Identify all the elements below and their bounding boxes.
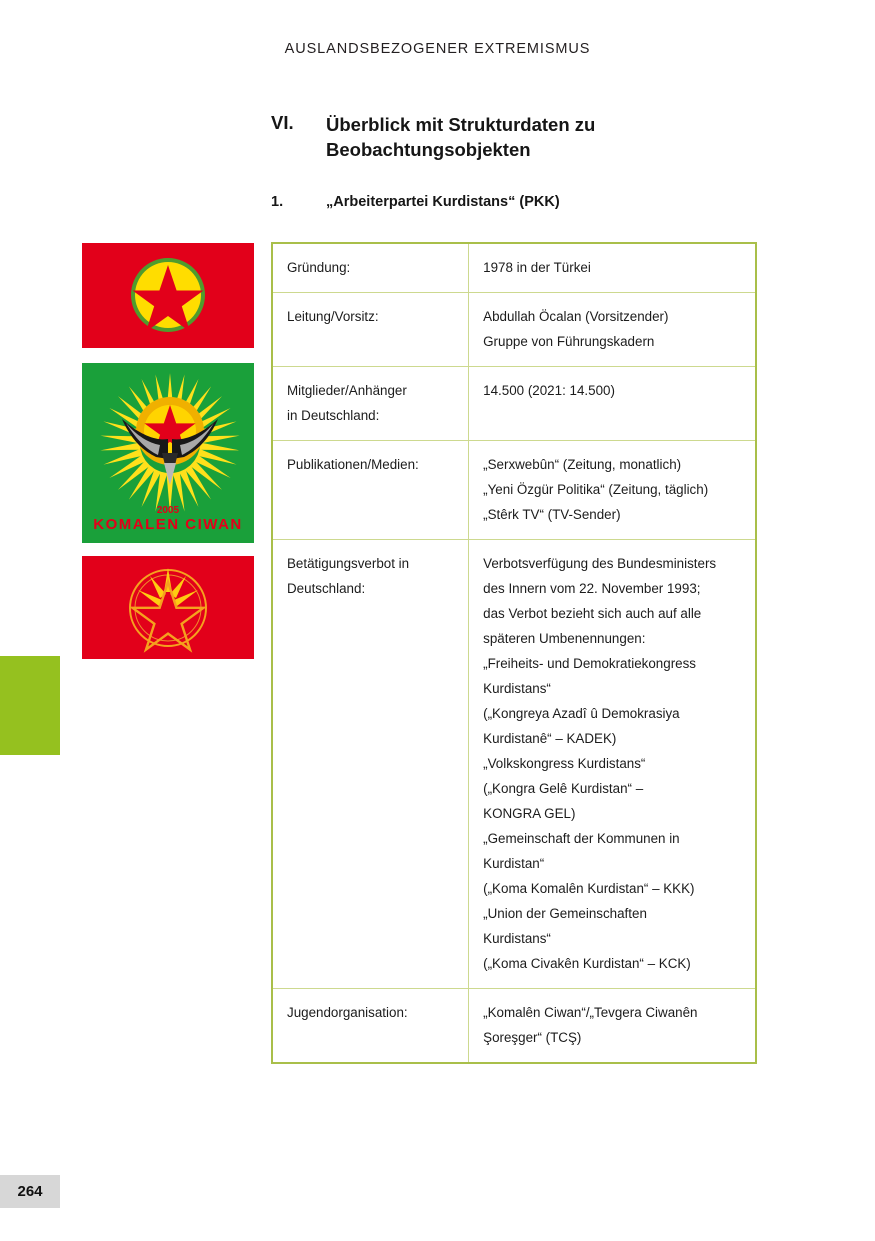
value-line: Abdullah Öcalan (Vorsitzender) [483,304,741,329]
section-number: 1. [271,194,283,210]
section-title: „Arbeiterpartei Kurdistans“ (PKK) [326,194,741,210]
table-row: Publikationen/Medien: „Serxwebûn“ (Zeitu… [272,441,756,540]
row-value-betaetigungsverbot: Verbotsverfügung des Bundesministers des… [469,540,756,989]
value-line: Kurdistanê“ – KADEK) [483,726,741,751]
value-line: Şoreşger“ (TCŞ) [483,1025,741,1050]
row-value-mitglieder: 14.500 (2021: 14.500) [469,367,756,441]
running-header: AUSLANDSBEZOGENER EXTREMISMUS [0,41,875,57]
chapter-heading: VI. Überblick mit Strukturdaten zu Beoba… [271,112,741,162]
komalen-ciwan-flag-graphic: 2005 KOMALEN CIWAN [82,363,254,543]
value-line: KONGRA GEL) [483,801,741,826]
value-line: späteren Umbenennungen: [483,626,741,651]
value-line: „Serxwebûn“ (Zeitung, monatlich) [483,452,741,477]
komalen-emblem-year: 2005 [157,505,180,516]
row-value-gruendung: 1978 in der Türkei [469,243,756,293]
tcs-flag-graphic [82,556,254,659]
value-line: „Volkskongress Kurdistans“ [483,751,741,776]
row-label-leitung: Leitung/Vorsitz: [272,293,469,367]
tcs-flag-image [82,556,254,659]
margin-color-tab [0,656,60,755]
table-row: Gründung: 1978 in der Türkei [272,243,756,293]
document-page: AUSLANDSBEZOGENER EXTREMISMUS VI. Überbl… [0,0,875,1241]
table-body: Gründung: 1978 in der Türkei Leitung/Vor… [272,243,756,1063]
value-line: „Yeni Özgür Politika“ (Zeitung, täglich) [483,477,741,502]
row-label-publikationen: Publikationen/Medien: [272,441,469,540]
section-heading: 1. „Arbeiterpartei Kurdistans“ (PKK) [271,194,741,210]
value-line: des Innern vom 22. November 1993; [483,576,741,601]
label-line: Leitung/Vorsitz: [287,304,454,329]
label-line: Mitglieder/Anhänger [287,378,454,403]
value-line: 14.500 (2021: 14.500) [483,378,741,403]
value-line: („Kongra Gelê Kurdistan“ – [483,776,741,801]
row-label-jugendorganisation: Jugendorganisation: [272,989,469,1064]
label-line: Publikationen/Medien: [287,452,454,477]
value-line: Gruppe von Führungskadern [483,329,741,354]
value-line: Kurdistans“ [483,926,741,951]
row-value-publikationen: „Serxwebûn“ (Zeitung, monatlich) „Yeni Ö… [469,441,756,540]
chapter-title: Überblick mit Strukturdaten zu Beobachtu… [326,112,741,162]
value-line: „Komalên Ciwan“/„Tevgera Ciwanên [483,1000,741,1025]
row-label-betaetigungsverbot: Betätigungsverbot in Deutschland: [272,540,469,989]
label-line: Betätigungsverbot in [287,551,454,576]
table-row: Mitglieder/Anhänger in Deutschland: 14.5… [272,367,756,441]
value-line: Kurdistan“ [483,851,741,876]
structure-data-table: Gründung: 1978 in der Türkei Leitung/Vor… [271,242,757,1064]
table-row: Leitung/Vorsitz: Abdullah Öcalan (Vorsit… [272,293,756,367]
table-row: Betätigungsverbot in Deutschland: Verbot… [272,540,756,989]
value-line: 1978 in der Türkei [483,255,741,280]
value-line: „Freiheits- und Demokratiekongress [483,651,741,676]
value-line: („Koma Komalên Kurdistan“ – KKK) [483,876,741,901]
pkk-flag-graphic [82,243,254,348]
pkk-flag-image [82,243,254,348]
label-line: Gründung: [287,255,454,280]
page-number: 264 [0,1175,60,1208]
value-line: („Kongreya Azadî û Demokrasiya [483,701,741,726]
value-line: („Koma Civakên Kurdistan“ – KCK) [483,951,741,976]
komalen-emblem-text: KOMALEN CIWAN [93,516,243,533]
row-value-jugendorganisation: „Komalên Ciwan“/„Tevgera Ciwanên Şoreşge… [469,989,756,1064]
label-line: Jugendorganisation: [287,1000,454,1025]
row-label-gruendung: Gründung: [272,243,469,293]
value-line: das Verbot bezieht sich auch auf alle [483,601,741,626]
row-value-leitung: Abdullah Öcalan (Vorsitzender) Gruppe vo… [469,293,756,367]
value-line: „Stêrk TV“ (TV-Sender) [483,502,741,527]
table-row: Jugendorganisation: „Komalên Ciwan“/„Tev… [272,989,756,1064]
value-line: Kurdistans“ [483,676,741,701]
value-line: Verbotsverfügung des Bundesministers [483,551,741,576]
row-label-mitglieder: Mitglieder/Anhänger in Deutschland: [272,367,469,441]
label-line: Deutschland: [287,576,454,601]
value-line: „Gemeinschaft der Kommunen in [483,826,741,851]
label-line: in Deutschland: [287,403,454,428]
komalen-ciwan-flag-image: 2005 KOMALEN CIWAN [82,363,254,543]
chapter-number: VI. [271,112,294,134]
value-line: „Union der Gemeinschaften [483,901,741,926]
